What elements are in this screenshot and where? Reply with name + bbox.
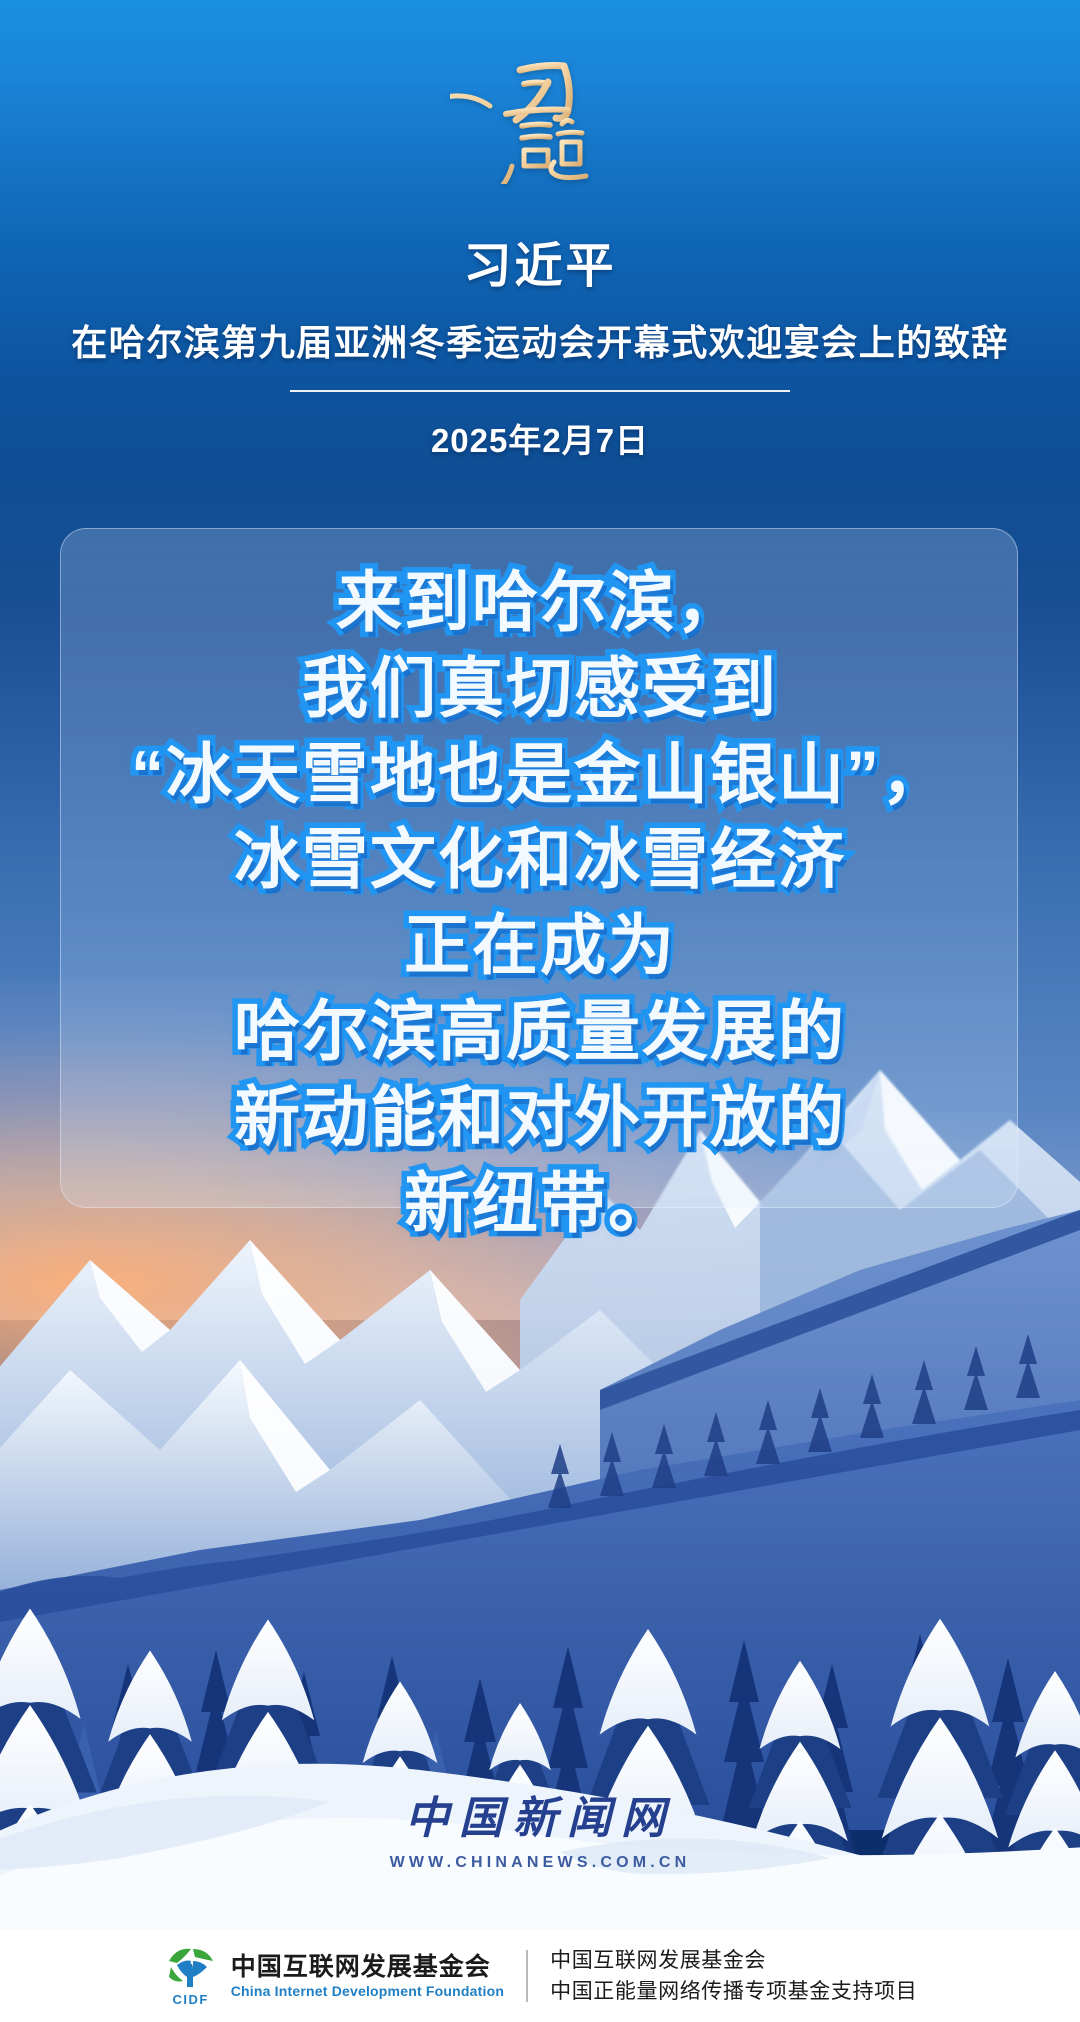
cidf-names: 中国互联网发展基金会 China Internet Development Fo… xyxy=(231,1953,504,2000)
quote-line: “冰天雪地也是金山银山”， xyxy=(0,732,1080,818)
fund-line: 中国互联网发展基金会 xyxy=(550,1948,917,1973)
fund-support-text: 中国互联网发展基金会 中国正能量网络传播专项基金支持项目 xyxy=(550,1948,917,2003)
xi-yan-dao-seal-icon xyxy=(450,34,630,184)
speaker-name: 习近平 xyxy=(0,226,1080,296)
cidf-abbreviation: CIDF xyxy=(173,1992,209,2007)
quote-line: 新纽带。 xyxy=(0,1161,1080,1247)
poster-root: 习近平 在哈尔滨第九届亚洲冬季运动会开幕式欢迎宴会上的致辞 2025年2月7日 … xyxy=(0,0,1080,2022)
cidf-name-en: China Internet Development Foundation xyxy=(231,1983,504,1999)
quote-block: 来到哈尔滨， 我们真切感受到 “冰天雪地也是金山银山”， 冰雪文化和冰雪经济 正… xyxy=(0,560,1080,1246)
sponsor-footer: CIDF 中国互联网发展基金会 China Internet Developme… xyxy=(0,1930,1080,2022)
cidf-name-cn: 中国互联网发展基金会 xyxy=(231,1953,504,1982)
speech-title: 在哈尔滨第九届亚洲冬季运动会开幕式欢迎宴会上的致辞 xyxy=(0,314,1080,366)
cidf-mark-icon xyxy=(163,1945,219,1991)
chinanews-url: WWW.CHINANEWS.COM.CN xyxy=(0,1854,1080,1872)
chinanews-logo-text: 中国新闻网 xyxy=(0,1782,1080,1846)
poster-header: 习近平 在哈尔滨第九届亚洲冬季运动会开幕式欢迎宴会上的致辞 2025年2月7日 xyxy=(0,0,1080,462)
quote-line: 我们真切感受到 xyxy=(0,646,1080,732)
quote-line: 新动能和对外开放的 xyxy=(0,1075,1080,1161)
cidf-block: CIDF 中国互联网发展基金会 China Internet Developme… xyxy=(163,1945,504,2007)
quote-line: 哈尔滨高质量发展的 xyxy=(0,989,1080,1075)
fund-line: 中国正能量网络传播专项基金支持项目 xyxy=(550,1979,917,2004)
chinanews-branding: 中国新闻网 WWW.CHINANEWS.COM.CN xyxy=(0,1782,1080,1872)
speech-date: 2025年2月7日 xyxy=(0,414,1080,462)
footer-divider xyxy=(526,1950,528,2002)
cidf-logo: CIDF xyxy=(163,1945,219,2007)
quote-line: 来到哈尔滨， xyxy=(0,560,1080,646)
quote-line: 冰雪文化和冰雪经济 xyxy=(0,817,1080,903)
header-divider xyxy=(290,390,790,392)
quote-line: 正在成为 xyxy=(0,903,1080,989)
